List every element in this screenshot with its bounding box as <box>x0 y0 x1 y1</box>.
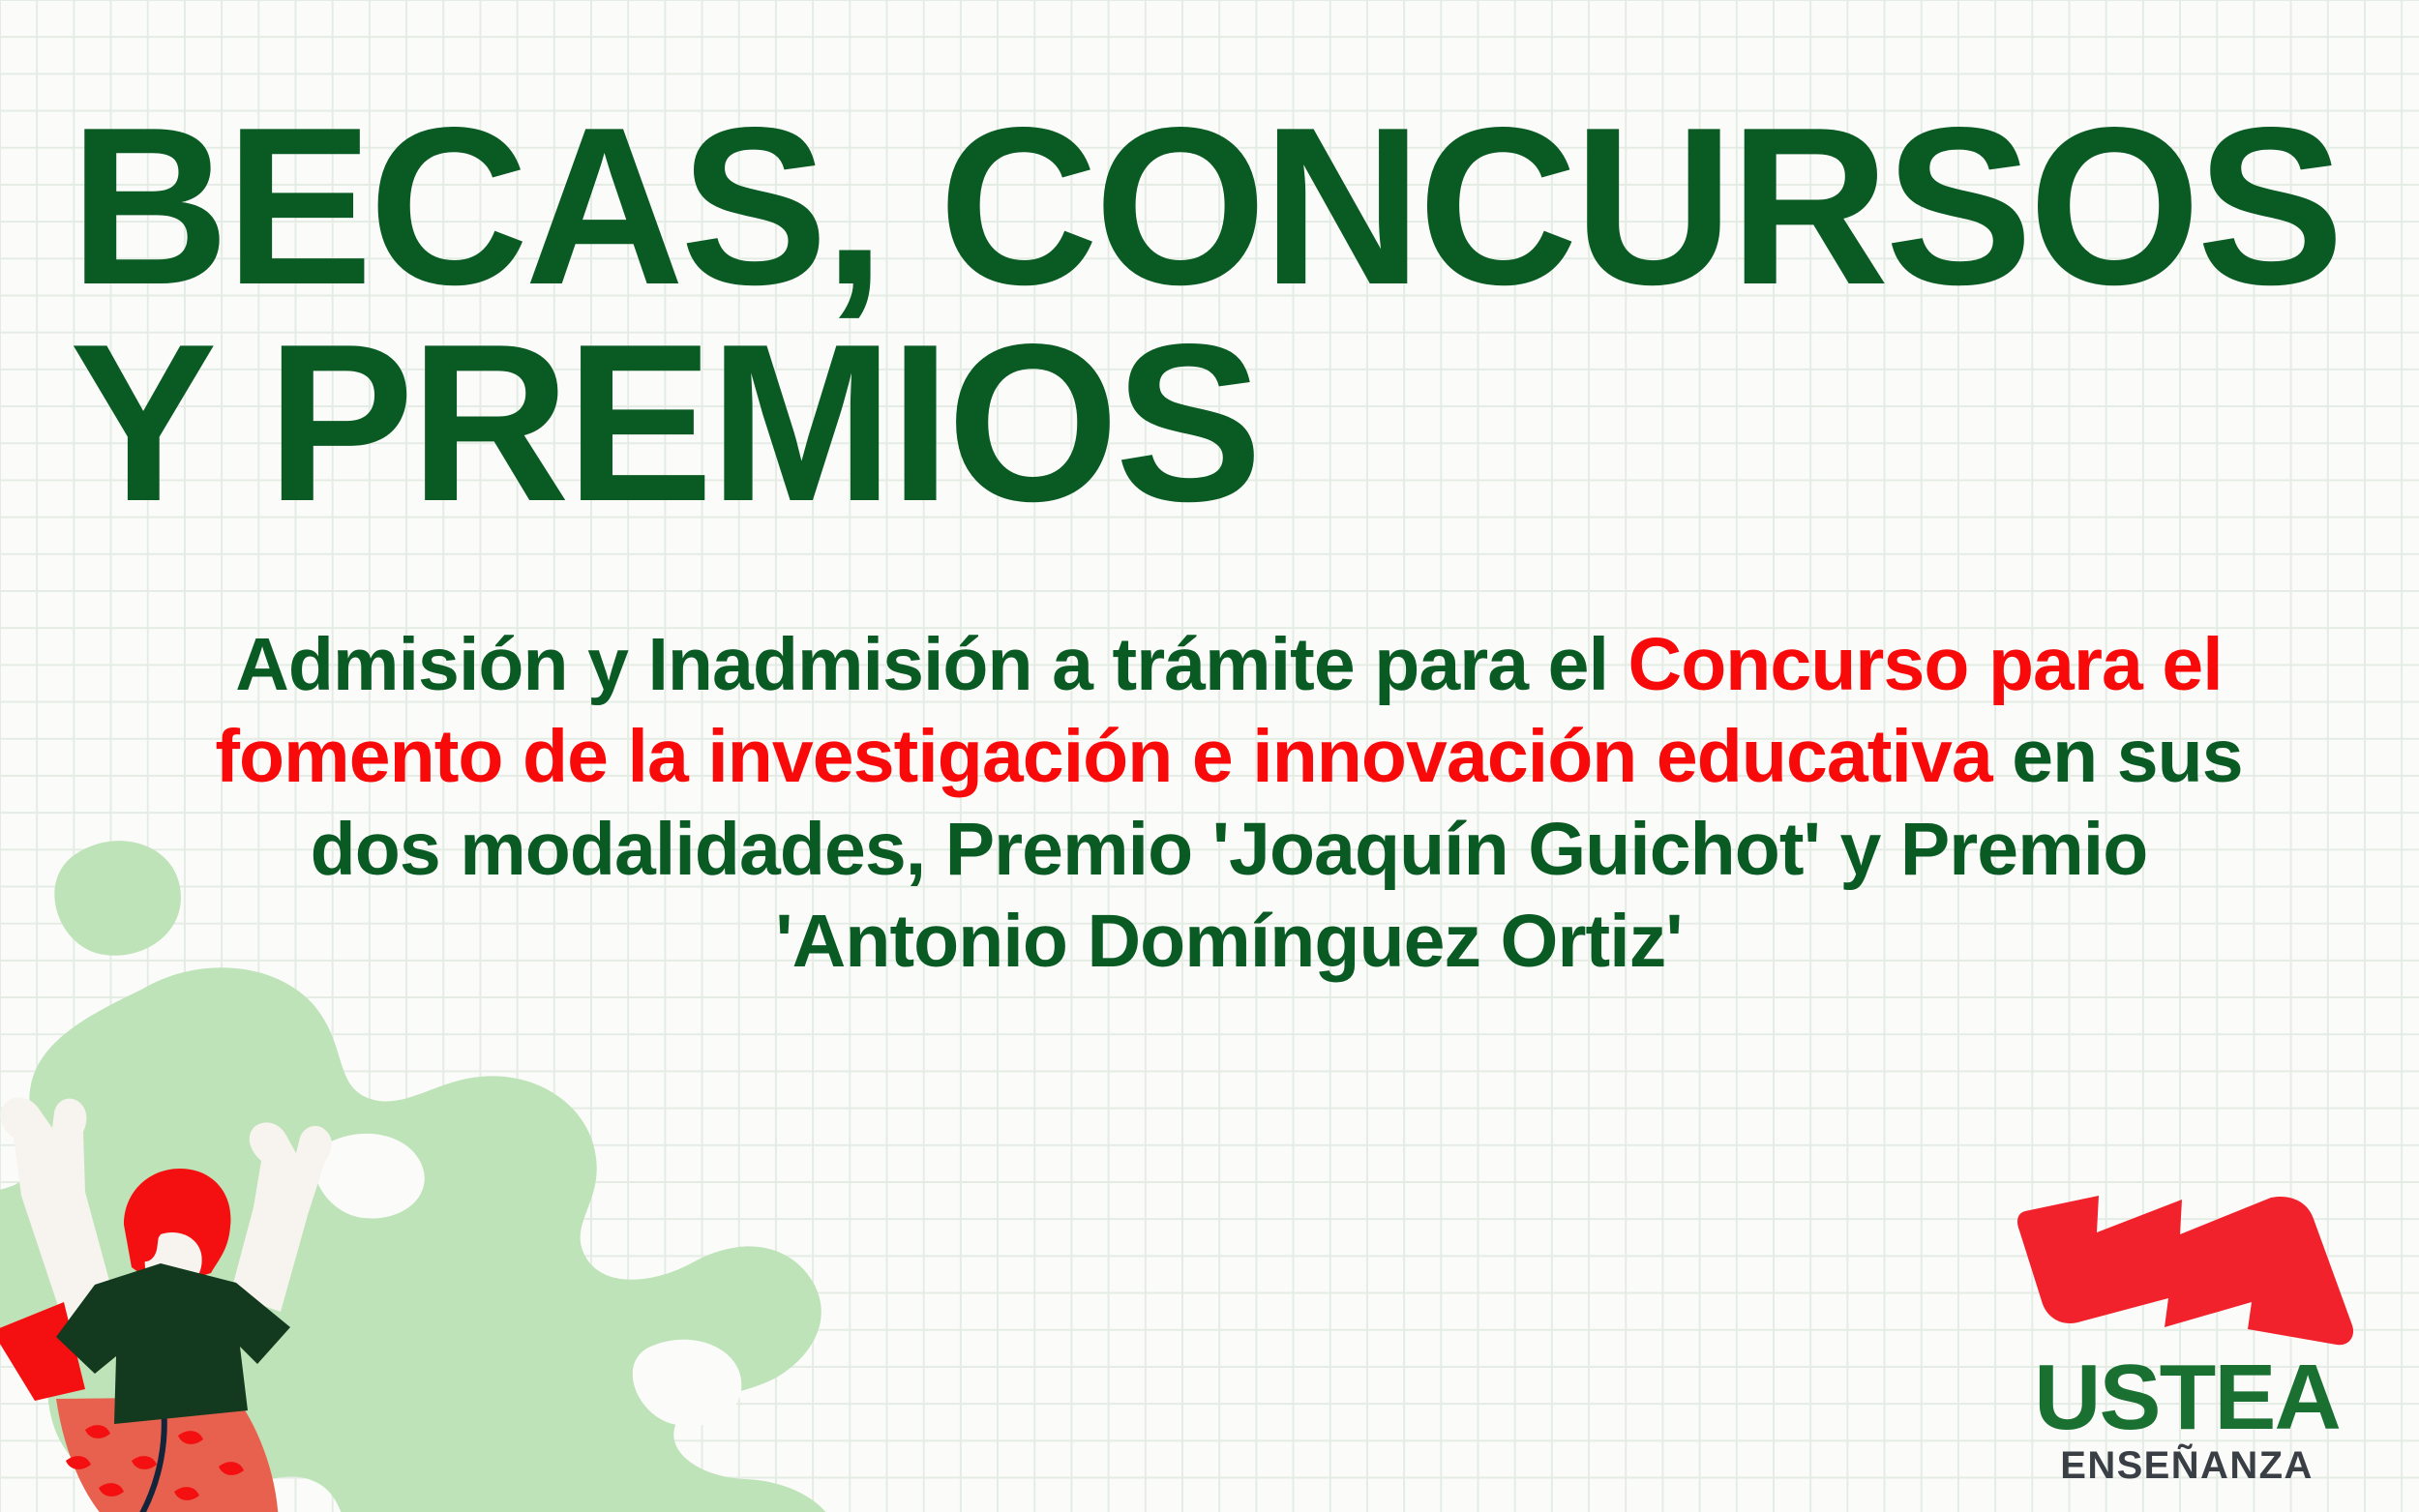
subtitle-segment-intro: Admisión y Inadmisión a trámite para el <box>235 623 1628 706</box>
ustea-logo: USTEA ENSEÑANZA <box>2008 1190 2366 1499</box>
ustea-wordmark: USTEA <box>2008 1353 2366 1442</box>
page-title-line-2: Y PREMIOS <box>70 319 1259 528</box>
poster-canvas: BECAS, CONCURSOS Y PREMIOS Admisión y In… <box>0 0 2419 1512</box>
page-title-line-1: BECAS, CONCURSOS <box>70 103 2341 311</box>
subtitle-paragraph: Admisión y Inadmisión a trámite para el … <box>174 619 2284 989</box>
lightning-bolt-icon <box>2017 1190 2356 1349</box>
ustea-tagline: ENSEÑANZA <box>2008 1444 2366 1488</box>
